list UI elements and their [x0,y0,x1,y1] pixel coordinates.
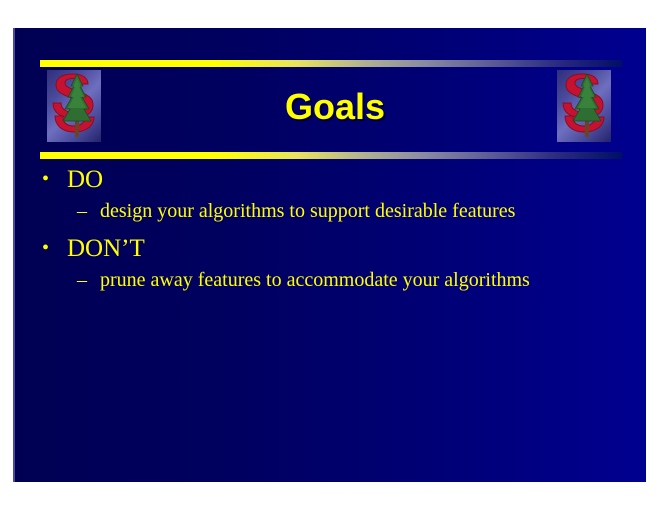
bullet-level1: • DON’T [15,232,646,265]
bullet-dash-icon: – [77,265,87,295]
slide-title: Goals [135,88,535,126]
bullet-group: • DON’T – prune away features to accommo… [15,232,646,295]
stanford-logo-right [557,70,611,142]
bullet-dash-icon: – [77,196,87,226]
slide-header: Goals [15,28,646,158]
bullet-level2: – prune away features to accommodate you… [15,265,646,295]
bullet-level2-label: design your algorithms to support desira… [100,200,515,222]
presentation-slide: Goals • DO – design your algorithms to s… [13,28,646,482]
bullet-level2: – design your algorithms to support desi… [15,196,646,226]
bullet-dot-icon: • [42,232,49,265]
bullet-level1-label: DON’T [67,235,145,262]
bullet-level1: • DO [15,163,646,196]
stanford-logo-left [47,70,101,142]
bullet-dot-icon: • [42,163,49,196]
bullet-level2-label: prune away features to accommodate your … [100,269,530,291]
stanford-s-tree-icon [557,70,611,142]
stanford-s-tree-icon [47,70,101,142]
header-rule-top [40,60,622,67]
slide-body: • DO – design your algorithms to support… [15,163,646,301]
bullet-group: • DO – design your algorithms to support… [15,163,646,226]
header-rule-bottom [40,152,622,159]
bullet-level1-label: DO [67,166,103,193]
